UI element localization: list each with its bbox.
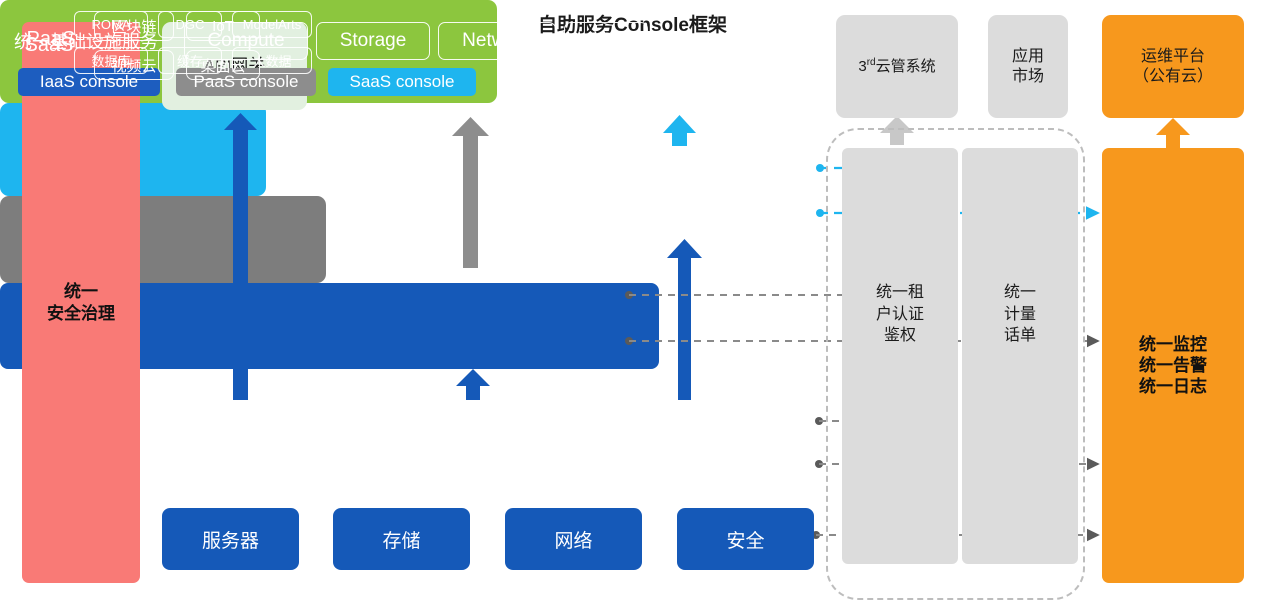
- panel-unified-ops[interactable]: 统一监控 统一告警 统一日志: [1102, 148, 1244, 583]
- auth-line-1: 统一租: [842, 282, 958, 304]
- column-unified-auth-label: 统一租 户认证 鉴权: [842, 282, 958, 347]
- metering-line-2: 计量: [962, 304, 1078, 326]
- column-unified-metering-label: 统一 计量 话单: [962, 282, 1078, 347]
- infra-item-cce[interactable]: CCE: [564, 22, 648, 60]
- metering-line-3: 话单: [962, 325, 1078, 347]
- panel-unified-security-governance[interactable]: 统一 安全治理: [22, 22, 140, 583]
- third-party-label: 云管系统: [876, 58, 936, 75]
- infra-item-compute[interactable]: Compute: [184, 22, 308, 60]
- arrow-saas-to-console: [663, 115, 696, 146]
- infra-item-storage[interactable]: Storage: [316, 22, 430, 60]
- box-ops-platform-public-cloud[interactable]: 运维平台 （公有云）: [1102, 15, 1244, 118]
- box-resource-network[interactable]: 网络: [505, 508, 642, 570]
- ops-side-line-1: 统一监控: [1139, 334, 1207, 355]
- app-market-line-2: 市场: [1012, 67, 1044, 87]
- ops-side-line-3: 统一日志: [1139, 376, 1207, 397]
- arrow-opsside-to-opstop: [1156, 118, 1190, 148]
- app-market-line-1: 应用: [1012, 47, 1044, 67]
- arrow-paas-to-console: [452, 117, 489, 268]
- metering-line-1: 统一: [962, 282, 1078, 304]
- governance-line-2: 安全治理: [47, 303, 115, 324]
- box-app-market[interactable]: 应用 市场: [988, 15, 1068, 118]
- arrow-infra-to-paas: [456, 369, 490, 400]
- ops-top-line-2: （公有云）: [1133, 67, 1213, 87]
- column-unified-metering[interactable]: [962, 148, 1078, 564]
- infrastructure-label: 统一基础设施服务: [14, 28, 158, 54]
- ops-side-line-2: 统一告警: [1139, 355, 1207, 376]
- governance-line-1: 统一: [47, 281, 115, 302]
- box-resource-storage[interactable]: 存储: [333, 508, 470, 570]
- third-party-superscript: rd: [867, 57, 876, 68]
- third-party-prefix: 3: [858, 58, 866, 75]
- ops-top-line-1: 运维平台: [1133, 47, 1213, 67]
- box-resource-security[interactable]: 安全: [677, 508, 814, 570]
- column-unified-auth[interactable]: [842, 148, 958, 564]
- auth-line-3: 鉴权: [842, 325, 958, 347]
- box-resource-server[interactable]: 服务器: [162, 508, 299, 570]
- architecture-diagram: 统一租 户认证 鉴权 统一 计量 话单 统一 安全治理 API网关 自助服务Co…: [0, 0, 1265, 605]
- infra-item-network[interactable]: Network: [438, 22, 556, 60]
- arrow-infra-to-saas: [667, 239, 702, 400]
- box-third-party-cloud-management[interactable]: 3rd云管系统: [836, 15, 958, 118]
- button-saas-console[interactable]: SaaS console: [328, 68, 476, 96]
- auth-line-2: 户认证: [842, 304, 958, 326]
